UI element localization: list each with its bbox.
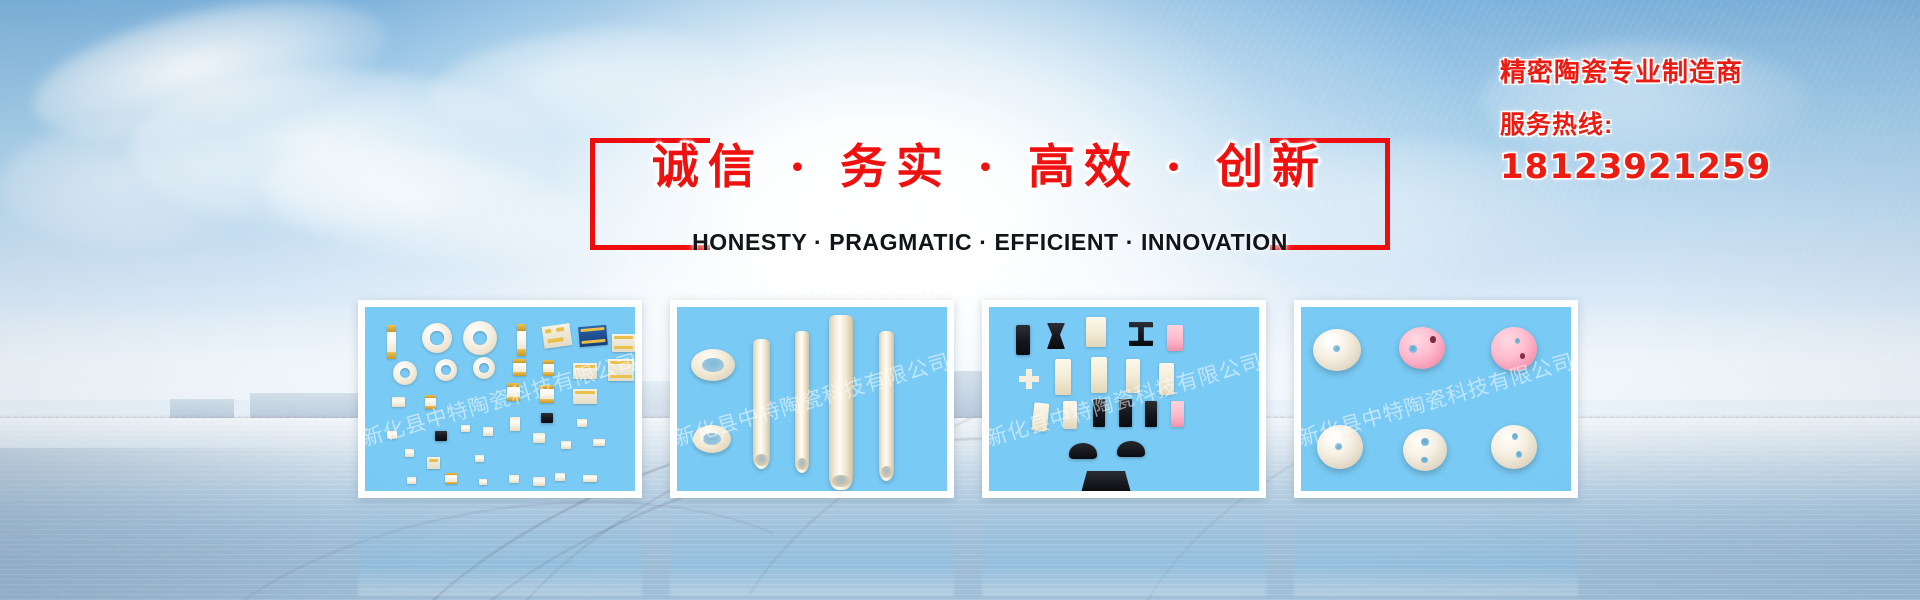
cloud-shape [0,120,260,250]
product-part [1399,327,1445,369]
product-part [1081,471,1131,491]
product-part [1063,401,1077,429]
hotline-phone[interactable]: 18123921259 [1500,147,1880,187]
product-part [445,473,457,484]
product-part [573,363,597,379]
product-part [407,477,416,484]
hotline-label: 服务热线: [1500,105,1880,141]
product-panel-group: 新化县中特陶瓷科技有限公司 新化县中特陶瓷科技有限公司 [358,300,1578,498]
panel-image-area: 新化县中特陶瓷科技有限公司 [677,307,947,491]
product-panel-ceramic-blocks[interactable]: 新化县中特陶瓷科技有限公司 [982,300,1266,498]
product-part [577,419,587,427]
product-part [422,323,452,353]
product-part [1093,399,1105,427]
product-part [473,357,495,379]
promo-banner: 诚信 · 务实 · 高效 · 创新 HONESTY · PRAGMATIC · … [0,0,1920,600]
product-part [1491,425,1537,469]
product-part [542,323,573,349]
product-part [483,427,493,436]
product-part [1047,323,1065,349]
product-part [593,439,605,446]
product-part [693,425,731,453]
product-part [405,449,414,457]
product-part [425,395,436,409]
product-part [461,425,470,432]
product-part [561,441,571,449]
product-part [463,321,497,355]
contact-block: 精密陶瓷专业制造商 服务热线: 18123921259 [1500,52,1880,187]
product-part [578,325,608,347]
product-part [573,389,597,404]
product-part [1313,329,1361,371]
product-part [1069,443,1097,459]
product-part [1119,399,1132,427]
product-part [879,331,894,481]
product-part [753,339,770,469]
company-tagline: 精密陶瓷专业制造商 [1500,52,1880,89]
panel-image-area: 新化县中特陶瓷科技有限公司 [365,307,635,491]
product-part [1019,369,1039,389]
product-part [1117,441,1145,457]
product-part [509,475,519,483]
product-part [387,325,396,359]
product-part [510,417,520,431]
product-part [1317,425,1363,469]
product-part [393,361,417,385]
product-part [479,479,487,485]
product-part [543,360,554,376]
product-part [1159,363,1174,395]
product-part [1129,322,1153,346]
product-part [1171,401,1184,427]
product-part [583,475,597,482]
product-part [608,359,634,381]
product-part [540,385,554,403]
product-part [691,349,735,381]
product-part [1167,325,1183,351]
product-part [1032,402,1050,431]
product-part [612,334,635,352]
product-panel-ceramic-tubes[interactable]: 新化县中特陶瓷科技有限公司 [670,300,954,498]
product-part [507,383,520,401]
cloud-shape [426,15,735,146]
product-part [475,455,484,462]
slogan-block: 诚信 · 务实 · 高效 · 创新 HONESTY · PRAGMATIC · … [590,138,1390,250]
product-part [517,324,526,356]
product-part [795,331,809,473]
product-panel-smd-components[interactable]: 新化县中特陶瓷科技有限公司 [358,300,642,498]
product-part [392,397,405,407]
product-part [829,315,853,490]
cloud-shape [21,0,398,166]
product-part [533,477,545,486]
product-part [435,359,457,381]
product-part [1086,317,1106,347]
panel-image-area: 新化县中特陶瓷科技有限公司 [989,307,1259,491]
cloud-shape [130,70,550,230]
product-part [541,413,553,423]
product-part [1491,327,1537,371]
slogan-english: HONESTY · PRAGMATIC · EFFICIENT · INNOVA… [590,229,1390,256]
product-part [1126,359,1140,393]
product-part [513,359,526,376]
product-part [555,473,565,481]
product-panel-ceramic-discs[interactable]: 新化县中特陶瓷科技有限公司 [1294,300,1578,498]
product-part [1091,357,1107,393]
panel-image-area: 新化县中特陶瓷科技有限公司 [1301,307,1571,491]
product-part [435,431,447,441]
product-part [1145,401,1157,427]
product-part [1055,359,1071,395]
product-part [1016,325,1030,355]
slogan-chinese: 诚信 · 务实 · 高效 · 创新 [590,128,1390,197]
cloud-shape [254,128,596,283]
product-part [1403,429,1447,471]
product-part [427,457,440,469]
product-part [533,433,545,443]
product-part [387,431,397,439]
